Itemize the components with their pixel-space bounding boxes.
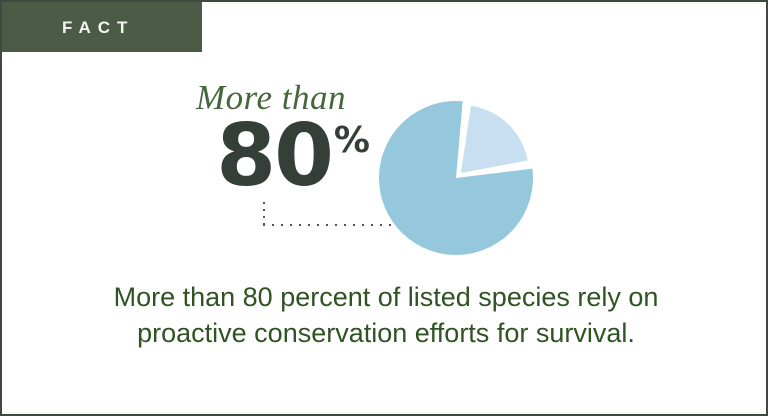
stat-value-percent-sign: % <box>334 123 370 159</box>
stat-value-number: 80 <box>216 119 332 195</box>
stat-value-row: 80 % <box>152 119 402 195</box>
pie-slice-major <box>379 101 533 255</box>
pie-chart <box>368 90 544 266</box>
caption-line-2: proactive conservation efforts for survi… <box>56 316 716 352</box>
pie-slice-minor <box>461 106 528 173</box>
fact-banner: FACT <box>2 2 202 52</box>
dotted-leader-vertical-segment <box>263 202 265 224</box>
caption-line-1: More than 80 percent of listed species r… <box>56 280 716 316</box>
pie-chart-svg <box>368 90 544 266</box>
statistic-block: More than 80 % <box>152 80 402 195</box>
caption-text: More than 80 percent of listed species r… <box>56 280 716 351</box>
fact-card: FACT More than 80 % More than 80 percent… <box>0 0 768 416</box>
fact-banner-label: FACT <box>2 19 134 36</box>
